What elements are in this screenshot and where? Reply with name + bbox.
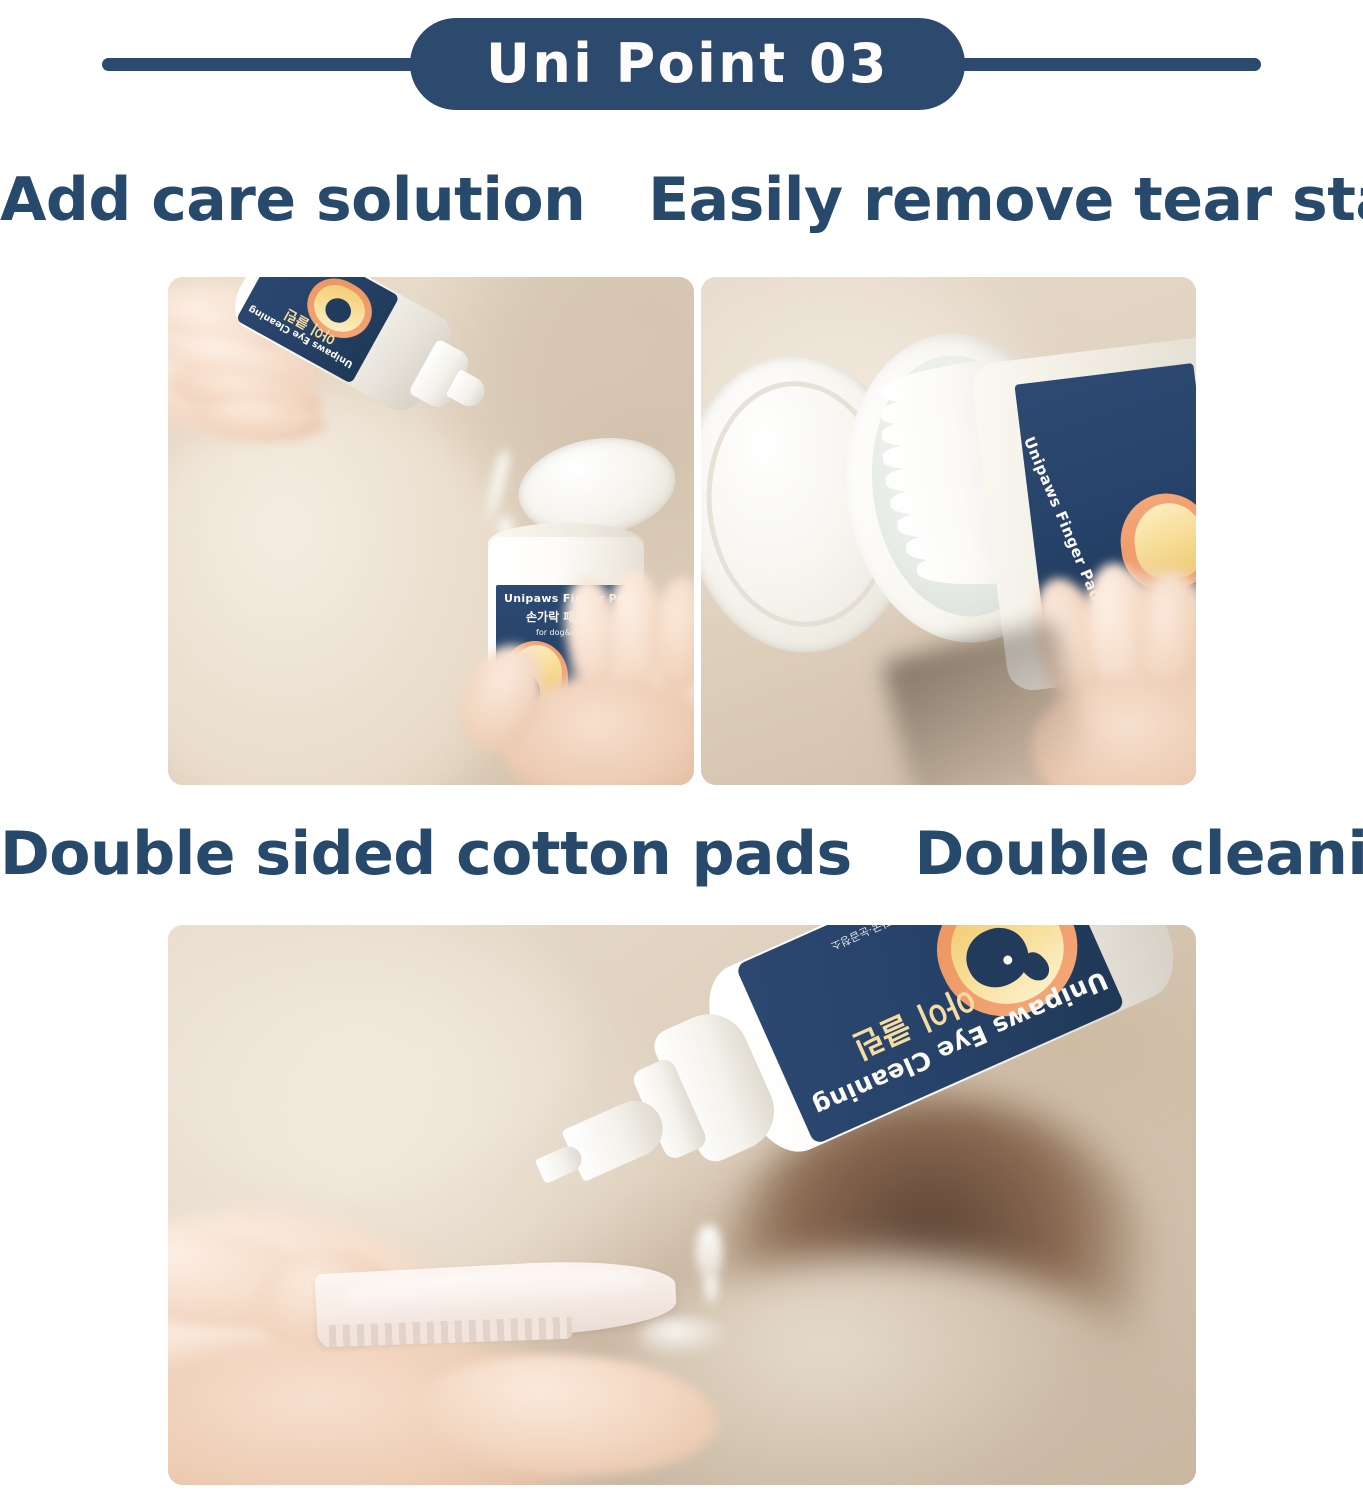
badge-connector-line-right [943,58,1261,71]
uni-point-badge-label: Uni Point 03 [486,37,889,91]
section-badge-row: Uni Point 03 [0,18,1363,110]
uni-point-badge: Uni Point 03 [410,18,965,110]
liquid-droplet-trail [704,1275,718,1305]
tube-korean-subtext: 눈물자국·눈곱청소 [829,925,911,952]
headline-2-part-2: Double cleaning [914,819,1363,889]
headline-row-2: Double sided cotton pads Double cleaning [0,822,1363,887]
photo-applying-solution-to-cotton-pad: Unipaws Eye Cleaning 아이 클린 눈물자국·눈곱청소 [168,925,1196,1485]
headline-row-1: Add care solution Easily remove tear sta… [0,168,1363,233]
headline-1-part-1: Add care solution [0,165,585,235]
moisture-sheen [638,1317,730,1357]
product-detail-page: Uni Point 03 Add care solution Easily re… [0,0,1363,1490]
headline-1-part-2: Easily remove tear stains [648,165,1363,235]
photo-pouring-solution-into-jar: Unipaws Eye Cleaning 아이 클린 눈물자국·눈곱청소 Uni… [168,277,694,785]
headline-2-part-1: Double sided cotton pads [0,819,852,889]
badge-connector-line-left [102,58,432,71]
photo-open-jar-with-cotton-pads: Unipaws Finger Pad [701,277,1196,785]
